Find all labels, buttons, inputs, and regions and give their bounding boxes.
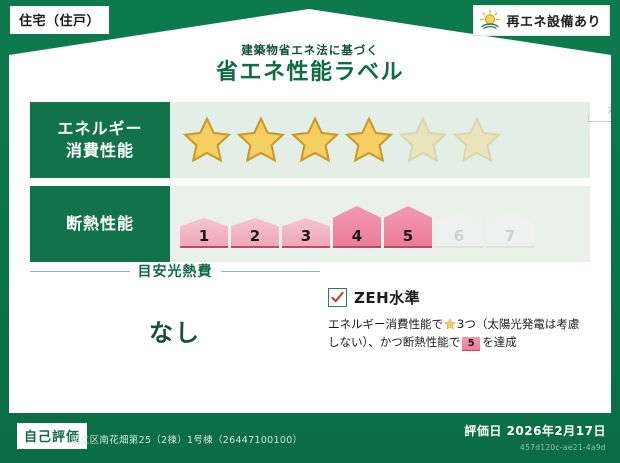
star-icon-faded <box>452 115 502 165</box>
zeh-heading: ZEH水準 <box>328 287 590 308</box>
insulation-level-1: 1 <box>180 218 228 248</box>
zeh-desc-part4: を達成 <box>482 335 517 349</box>
energy-label-line2: 消費性能 <box>66 140 134 162</box>
energy-label-line1: エネルギー <box>57 118 142 140</box>
energy-performance-body: 太陽光発電(自家消費)分 <box>170 102 590 178</box>
check-icon <box>331 291 344 304</box>
star-icon-faded <box>398 115 448 165</box>
sun-icon <box>479 9 501 31</box>
star-icon <box>182 115 232 165</box>
insulation-performance-body: 1 2 3 4 5 6 7 <box>170 186 590 262</box>
zeh-desc-level-chip: 5 <box>462 337 480 351</box>
property-address: 足立区南花畑第25（2棟）1号棟（26447100100） <box>70 432 302 446</box>
insulation-level-scale: 1 2 3 4 5 6 7 <box>170 186 534 262</box>
star-rating <box>170 115 502 165</box>
insulation-level-3: 3 <box>282 218 330 248</box>
evaluation-date: 評価日 2026年2月17日 <box>464 422 606 439</box>
inline-star-icon <box>444 318 456 330</box>
insulation-level-5: 5 <box>384 206 432 248</box>
insulation-performance-row: 断熱性能 1 2 3 4 5 6 7 <box>30 186 590 262</box>
star-icon <box>344 115 394 165</box>
energy-performance-row: エネルギー 消費性能 太陽光発電(自家消費)分 <box>30 102 590 178</box>
performance-rows: エネルギー 消費性能 太陽光発電(自家消費)分 <box>30 102 590 270</box>
zeh-title: ZEH水準 <box>354 287 420 308</box>
star-icon <box>236 115 286 165</box>
star-icon <box>290 115 340 165</box>
title-block: 建築物省エネ法に基づく 省エネ性能ラベル <box>9 43 611 87</box>
label-card: 建築物省エネ法に基づく 省エネ性能ラベル エネルギー 消費性能 <box>9 9 611 413</box>
renewable-equipment-badge: 再エネ設備あり <box>473 5 610 36</box>
insulation-performance-label: 断熱性能 <box>30 186 170 262</box>
zeh-checkbox[interactable] <box>328 288 347 307</box>
title-subtitle: 建築物省エネ法に基づく <box>9 43 611 57</box>
zeh-desc-part1: エネルギー消費性能で <box>328 317 443 331</box>
energy-performance-label: エネルギー 消費性能 <box>30 102 170 178</box>
zeh-description: エネルギー消費性能で3つ（太陽光発電は考慮しない）、かつ断熱性能で5を達成 <box>328 315 590 351</box>
divider-left <box>30 271 130 272</box>
insulation-label-text: 断熱性能 <box>66 213 134 235</box>
zeh-desc-part2: 3つ（太陽光発電 <box>457 317 545 331</box>
footer: 自己評価 足立区南花畑第25（2棟）1号棟（26447100100） 評価日 2… <box>0 413 620 463</box>
bottom-section: 目安光熱費 なし ZEH水準 エネルギー消費性能で3つ（太陽光発電は考慮しない）… <box>30 261 590 401</box>
insulation-level-2: 2 <box>231 218 279 248</box>
evaluation-hash: 457d120c-ae21-4a9d <box>520 443 606 452</box>
insulation-level-7: 7 <box>486 212 534 248</box>
utility-cost-title: 目安光熱費 <box>138 261 213 281</box>
insulation-level-4: 4 <box>333 206 381 248</box>
zeh-block: ZEH水準 エネルギー消費性能で3つ（太陽光発電は考慮しない）、かつ断熱性能で5… <box>328 261 590 401</box>
energy-label-root: 建築物省エネ法に基づく 省エネ性能ラベル エネルギー 消費性能 <box>0 0 620 463</box>
renewable-badge-label: 再エネ設備あり <box>506 11 601 30</box>
page-title: 省エネ性能ラベル <box>9 59 611 87</box>
divider-right <box>221 271 321 272</box>
utility-cost-value: なし <box>30 313 320 348</box>
insulation-level-6: 6 <box>435 212 483 248</box>
utility-cost-heading: 目安光熱費 <box>30 261 320 281</box>
utility-cost-block: 目安光熱費 なし <box>30 261 320 401</box>
label-card-inner: 建築物省エネ法に基づく 省エネ性能ラベル エネルギー 消費性能 <box>9 9 611 413</box>
house-type-tag: 住宅（住戸） <box>10 6 109 34</box>
